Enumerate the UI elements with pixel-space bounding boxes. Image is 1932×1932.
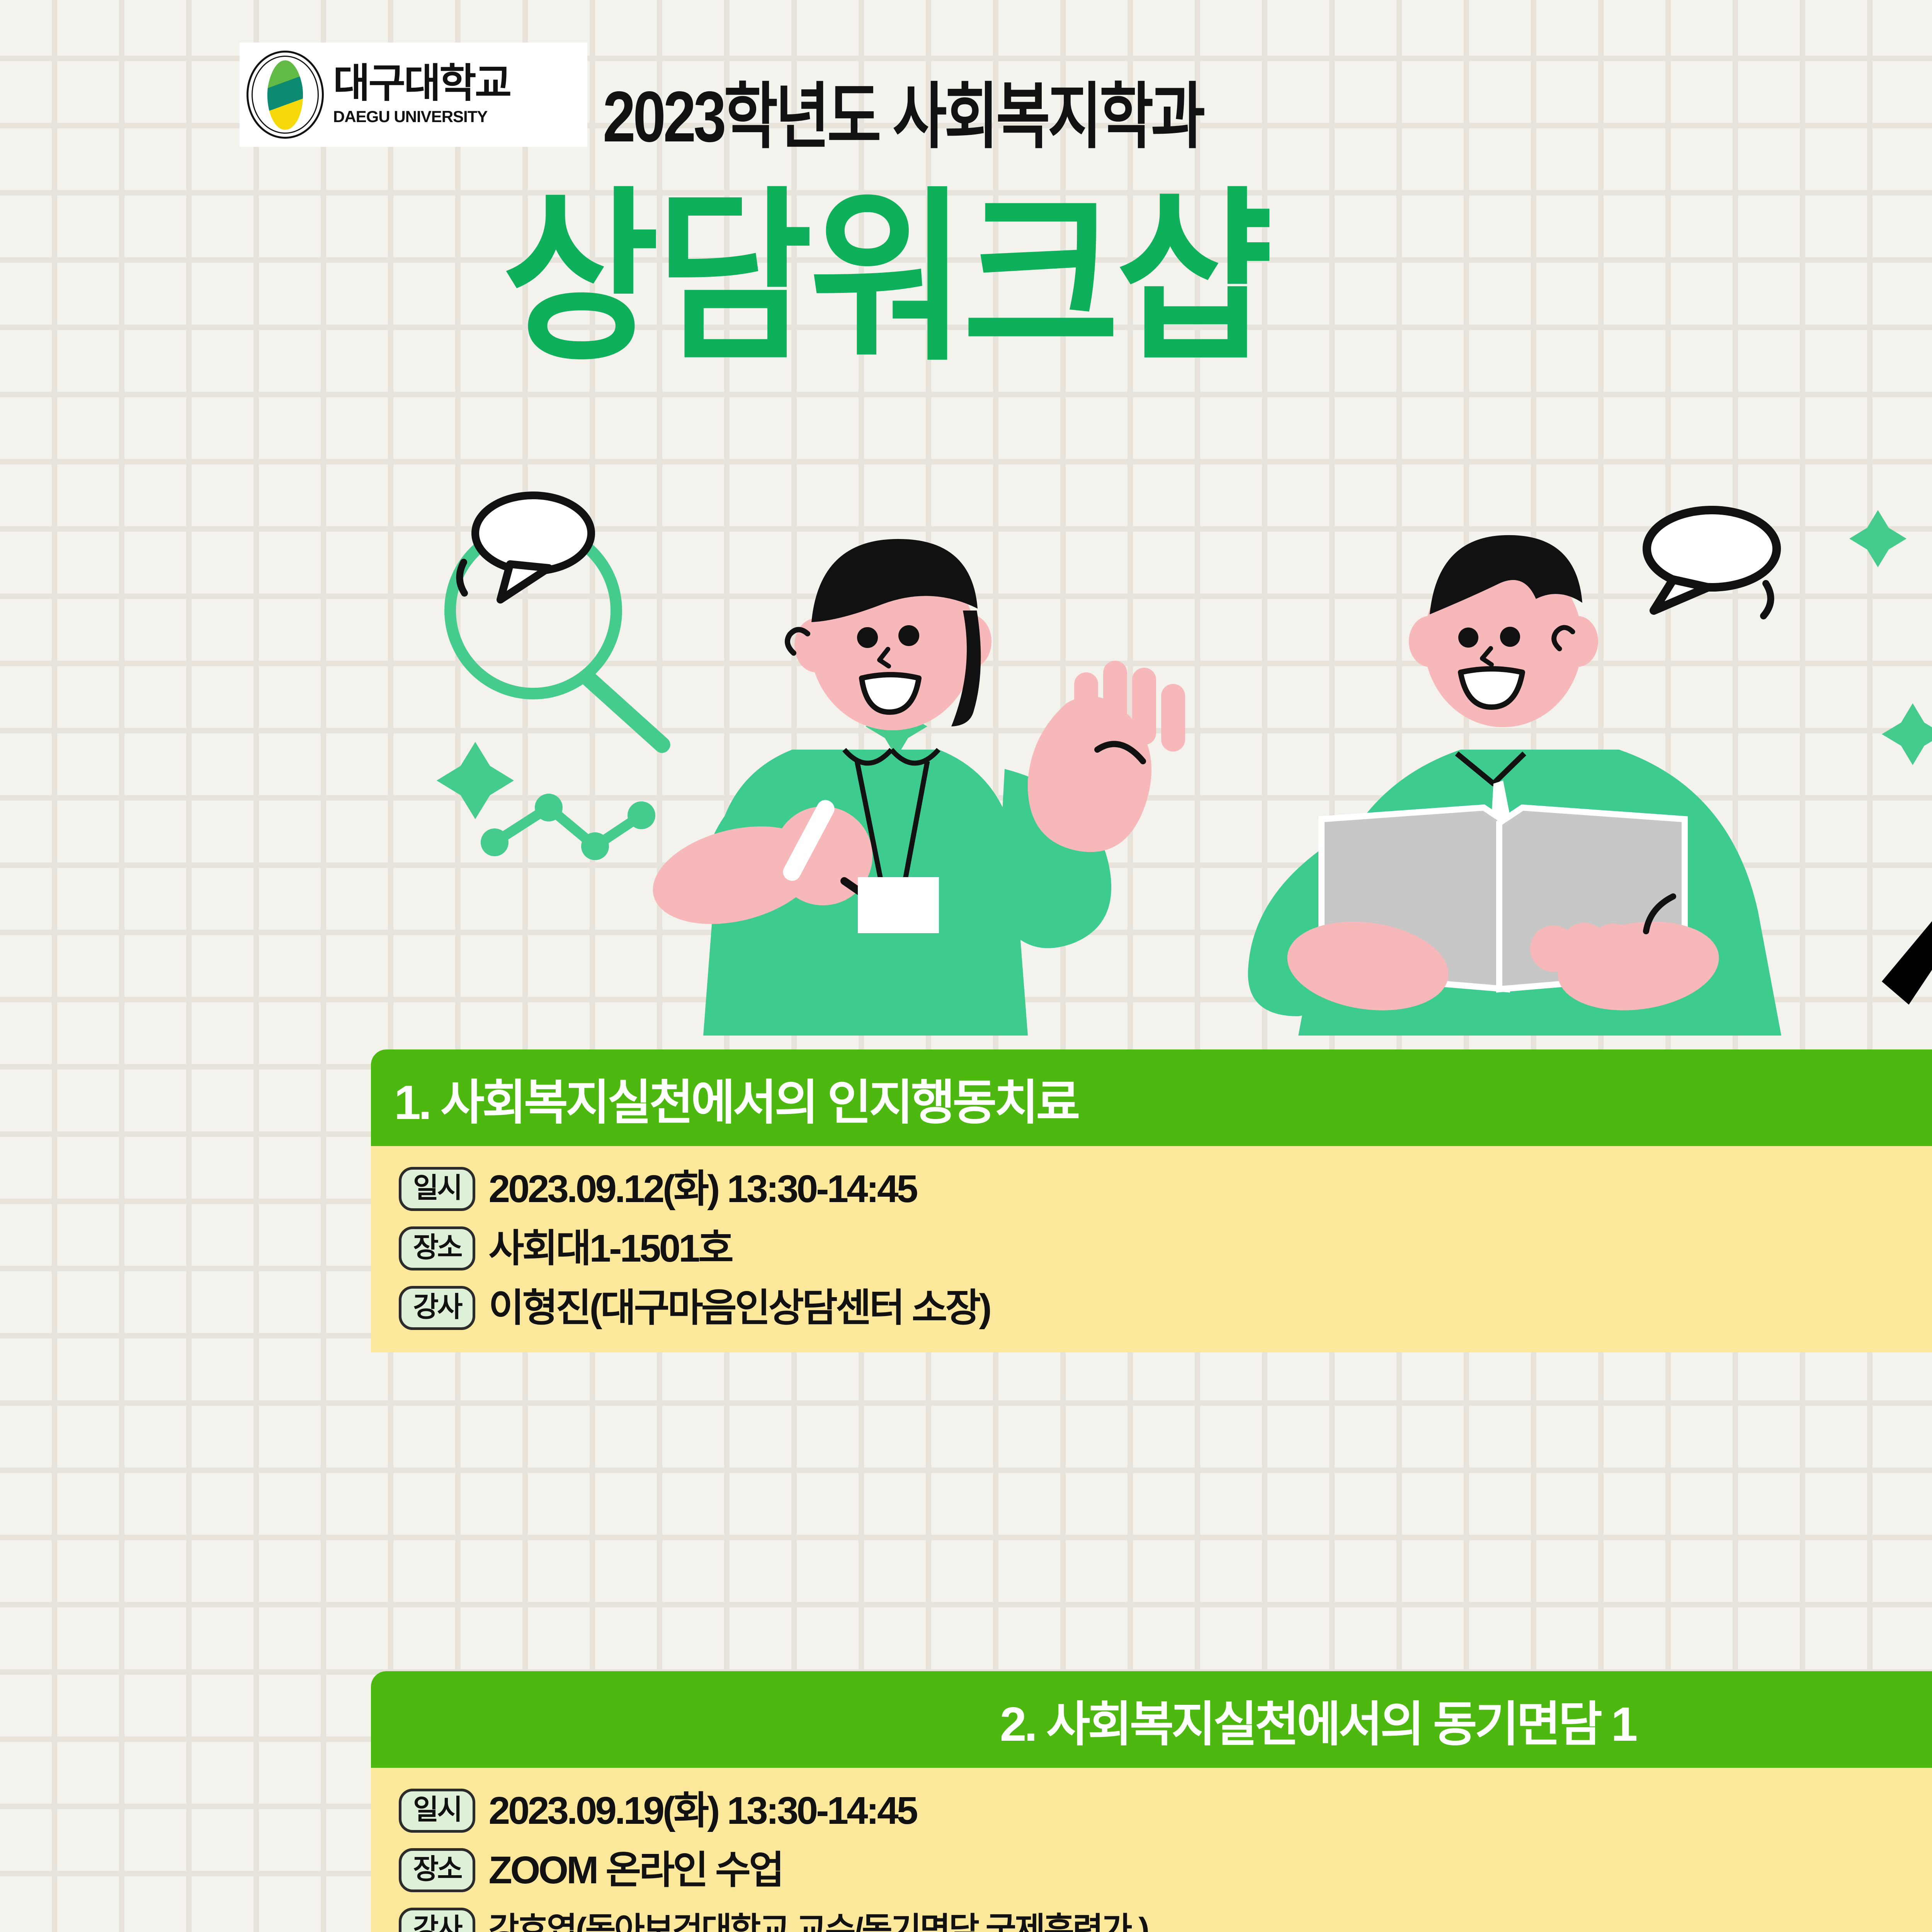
detail-label: 장소: [399, 1848, 475, 1892]
detail-row: 일시 2023.09.19(화) 13:30-14:45: [371, 1789, 1932, 1833]
poster-canvas: 대구대학교 DAEGU UNIVERSITY Un: [0, 0, 1932, 1932]
session-card: 2. 사회복지실천에서의 동기면담 1 일시 2023.09.19(화) 13:…: [371, 1671, 1932, 1932]
daegu-university-seal-icon: [247, 51, 324, 139]
sparkle-icon: [1882, 703, 1932, 765]
detail-label: 일시: [399, 1167, 475, 1211]
detail-label: 일시: [399, 1789, 475, 1833]
speech-bubble-icon: [459, 495, 591, 600]
sparkle-icon: [437, 742, 514, 819]
detail-row: 일시 2023.09.12(화) 13:30-14:45: [371, 1167, 1932, 1211]
workshop-illustration: [348, 456, 1932, 1036]
session-details: 일시 2023.09.12(화) 13:30-14:45 장소 사회대1-150…: [371, 1146, 1932, 1352]
session-heading: 2. 사회복지실천에서의 동기면담 1: [371, 1671, 1932, 1768]
speech-bubble-icon: [1647, 510, 1777, 616]
figure-woman: [459, 495, 1185, 1036]
session-heading: 1. 사회복지실천에서의 인지행동치료: [371, 1049, 1932, 1146]
detail-value: 강호엽(동아보건대학교 교수/동기면담 국제훈련가 ): [488, 1912, 1148, 1932]
session-details: 일시 2023.09.19(화) 13:30-14:45 장소 ZOOM 온라인…: [371, 1768, 1932, 1932]
line-chart-icon: [481, 794, 655, 860]
trend-arrow-icon: [1882, 773, 1932, 1005]
detail-value: 사회대1-1501호: [488, 1228, 731, 1269]
detail-label: 장소: [399, 1226, 475, 1270]
detail-value: ZOOM 온라인 수업: [488, 1850, 782, 1891]
figure-man: [1248, 510, 1781, 1036]
detail-label: 강사: [399, 1908, 475, 1932]
detail-row: 장소 사회대1-1501호: [371, 1226, 1932, 1270]
university-logo-korean: 대구대학교: [333, 63, 510, 104]
session-card: 1. 사회복지실천에서의 인지행동치료 일시 2023.09.12(화) 13:…: [371, 1049, 1932, 1352]
sparkle-icon: [1849, 510, 1906, 567]
detail-value: 2023.09.12(화) 13:30-14:45: [488, 1169, 916, 1209]
detail-value: 이형진(대구마음인상담센터 소장): [488, 1288, 990, 1328]
university-logo-english: DAEGU UNIVERSITY: [333, 107, 510, 126]
detail-value: 2023.09.19(화) 13:30-14:45: [488, 1791, 916, 1831]
university-logo: 대구대학교 DAEGU UNIVERSITY: [240, 43, 587, 147]
detail-row: 강사 이형진(대구마음인상담센터 소장): [371, 1286, 1932, 1330]
detail-row: 장소 ZOOM 온라인 수업: [371, 1848, 1932, 1892]
detail-label: 강사: [399, 1286, 475, 1330]
poster-eyebrow-title: 2023학년도 사회복지학과: [603, 58, 1680, 162]
poster-main-title: 상담워크샵: [502, 185, 1924, 371]
detail-row: 강사 강호엽(동아보건대학교 교수/동기면담 국제훈련가 ): [371, 1908, 1932, 1932]
